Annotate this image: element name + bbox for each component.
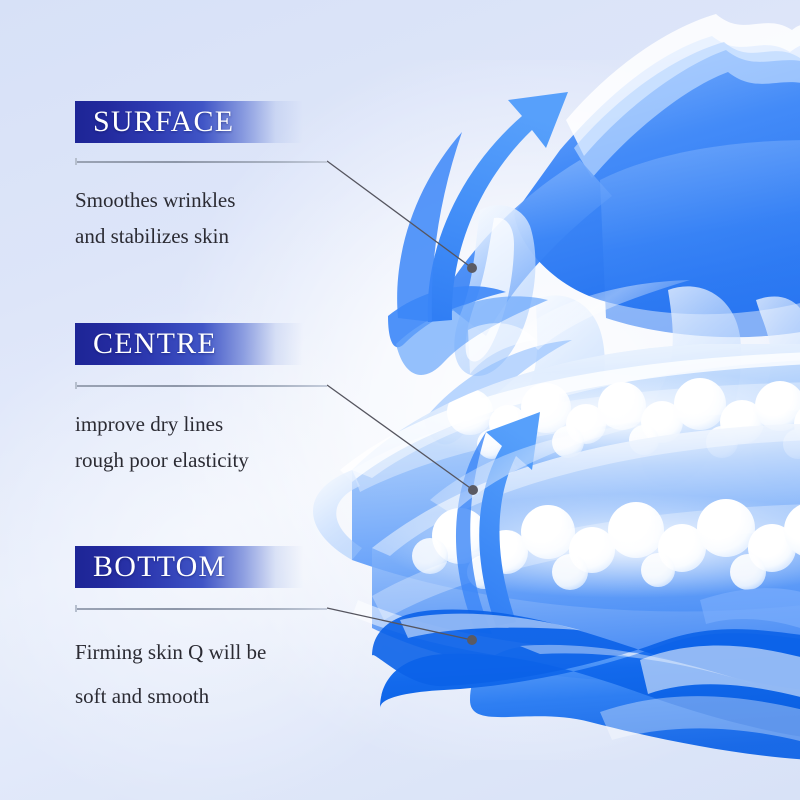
label-title-centre: CENTRE <box>75 329 217 359</box>
description-surface: Smoothes wrinkles and stabilizes skin <box>75 182 235 254</box>
divider-bottom <box>75 608 327 610</box>
leader-dot-surface <box>467 263 477 273</box>
label-title-surface: SURFACE <box>75 107 234 137</box>
label-bar-centre: CENTRE <box>75 323 303 365</box>
divider-centre <box>75 385 327 387</box>
description-bottom-line-1: Firming skin Q will be <box>75 630 266 674</box>
leader-line-bottom <box>327 608 472 640</box>
poster-canvas: SURFACE Smoothes wrinkles and stabilizes… <box>0 0 800 800</box>
description-centre-line-2: rough poor elasticity <box>75 442 249 478</box>
label-title-bottom: BOTTOM <box>75 552 226 582</box>
label-bar-bottom: BOTTOM <box>75 546 303 588</box>
label-bar-surface: SURFACE <box>75 101 303 143</box>
description-centre: improve dry lines rough poor elasticity <box>75 406 249 478</box>
description-bottom-line-2: soft and smooth <box>75 674 266 718</box>
divider-surface <box>75 161 327 163</box>
leader-dot-centre <box>468 485 478 495</box>
description-surface-line-2: and stabilizes skin <box>75 218 235 254</box>
leader-dot-bottom <box>467 635 477 645</box>
leader-line-surface <box>327 161 472 268</box>
leader-line-centre <box>327 385 473 490</box>
description-bottom: Firming skin Q will be soft and smooth <box>75 630 266 718</box>
description-surface-line-1: Smoothes wrinkles <box>75 182 235 218</box>
description-centre-line-1: improve dry lines <box>75 406 249 442</box>
